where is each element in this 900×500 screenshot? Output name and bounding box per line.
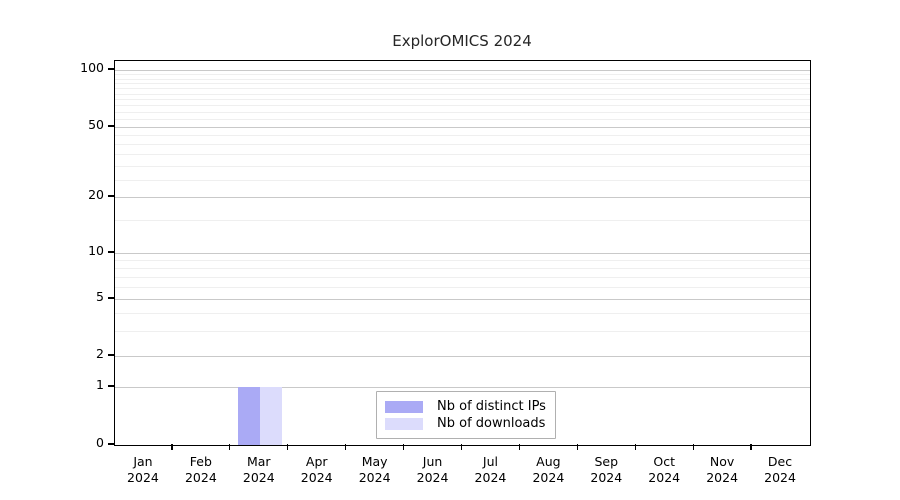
x-tick-month: Jan [133,454,152,469]
x-axis-tick-mark [287,444,288,450]
x-tick-month: Jun [423,454,443,469]
x-axis-tick-mark [693,444,694,450]
x-axis-tick-label: Jul2024 [475,454,507,486]
legend-item-label: Nb of distinct IPs [437,399,546,414]
x-axis-tick-mark [635,444,636,450]
legend-swatch-icon [385,401,423,413]
x-axis-tick-label: Jan2024 [127,454,159,486]
x-tick-year: 2024 [590,470,622,486]
y-axis-tick-mark [108,354,114,355]
x-axis-tick-mark [519,444,520,450]
x-tick-year: 2024 [648,470,680,486]
x-axis-tick-label: Feb2024 [185,454,217,486]
x-tick-month: Sep [595,454,619,469]
y-axis-tick-mark [108,297,114,298]
x-axis-tick-mark [461,444,462,450]
chart-legend: Nb of distinct IPs Nb of downloads [376,391,556,439]
x-axis-tick-label: Aug2024 [532,454,564,486]
legend-item[interactable]: Nb of downloads [385,415,546,432]
x-axis-tick-label: Mar2024 [243,454,275,486]
x-tick-month: Aug [536,454,560,469]
y-axis-tick-mark [108,68,114,69]
y-axis-tick-mark [108,443,114,444]
x-tick-month: Dec [768,454,792,469]
y-axis-tick-mark [108,195,114,196]
x-axis-tick-label: Oct2024 [648,454,680,486]
x-tick-year: 2024 [532,470,564,486]
y-axis-tick-mark [108,125,114,126]
x-tick-month: Jul [483,454,498,469]
x-tick-year: 2024 [764,470,796,486]
x-tick-year: 2024 [417,470,449,486]
x-tick-year: 2024 [706,470,738,486]
x-tick-year: 2024 [301,470,333,486]
x-tick-month: Apr [306,454,328,469]
x-tick-month: Nov [710,454,734,469]
chart-figure: ExplorOMICS 2024 0125102050100 Jan2024Fe… [0,0,900,500]
y-axis-tick-mark [108,385,114,386]
legend-item-label: Nb of downloads [437,416,545,431]
legend-swatch-icon [385,418,423,430]
x-tick-year: 2024 [127,470,159,486]
x-axis-tick-mark [403,444,404,450]
x-tick-year: 2024 [185,470,217,486]
x-tick-year: 2024 [475,470,507,486]
x-axis-tick-label: May2024 [359,454,391,486]
x-axis-tick-label: Sep2024 [590,454,622,486]
x-tick-year: 2024 [359,470,391,486]
x-tick-month: May [362,454,388,469]
x-tick-month: Feb [190,454,212,469]
x-axis-tick-label: Nov2024 [706,454,738,486]
x-axis-tick-label: Jun2024 [417,454,449,486]
legend-item[interactable]: Nb of distinct IPs [385,398,546,415]
x-tick-month: Oct [653,454,675,469]
x-axis-tick-mark [750,444,751,450]
x-axis-tick-mark [171,444,172,450]
x-axis-tick-mark [345,444,346,450]
x-axis-tick-label: Apr2024 [301,454,333,486]
x-axis-tick-label: Dec2024 [764,454,796,486]
x-axis-tick-mark [577,444,578,450]
x-axis-tick-mark [229,444,230,450]
y-axis-tick-mark [108,251,114,252]
x-tick-year: 2024 [243,470,275,486]
x-tick-month: Mar [247,454,271,469]
